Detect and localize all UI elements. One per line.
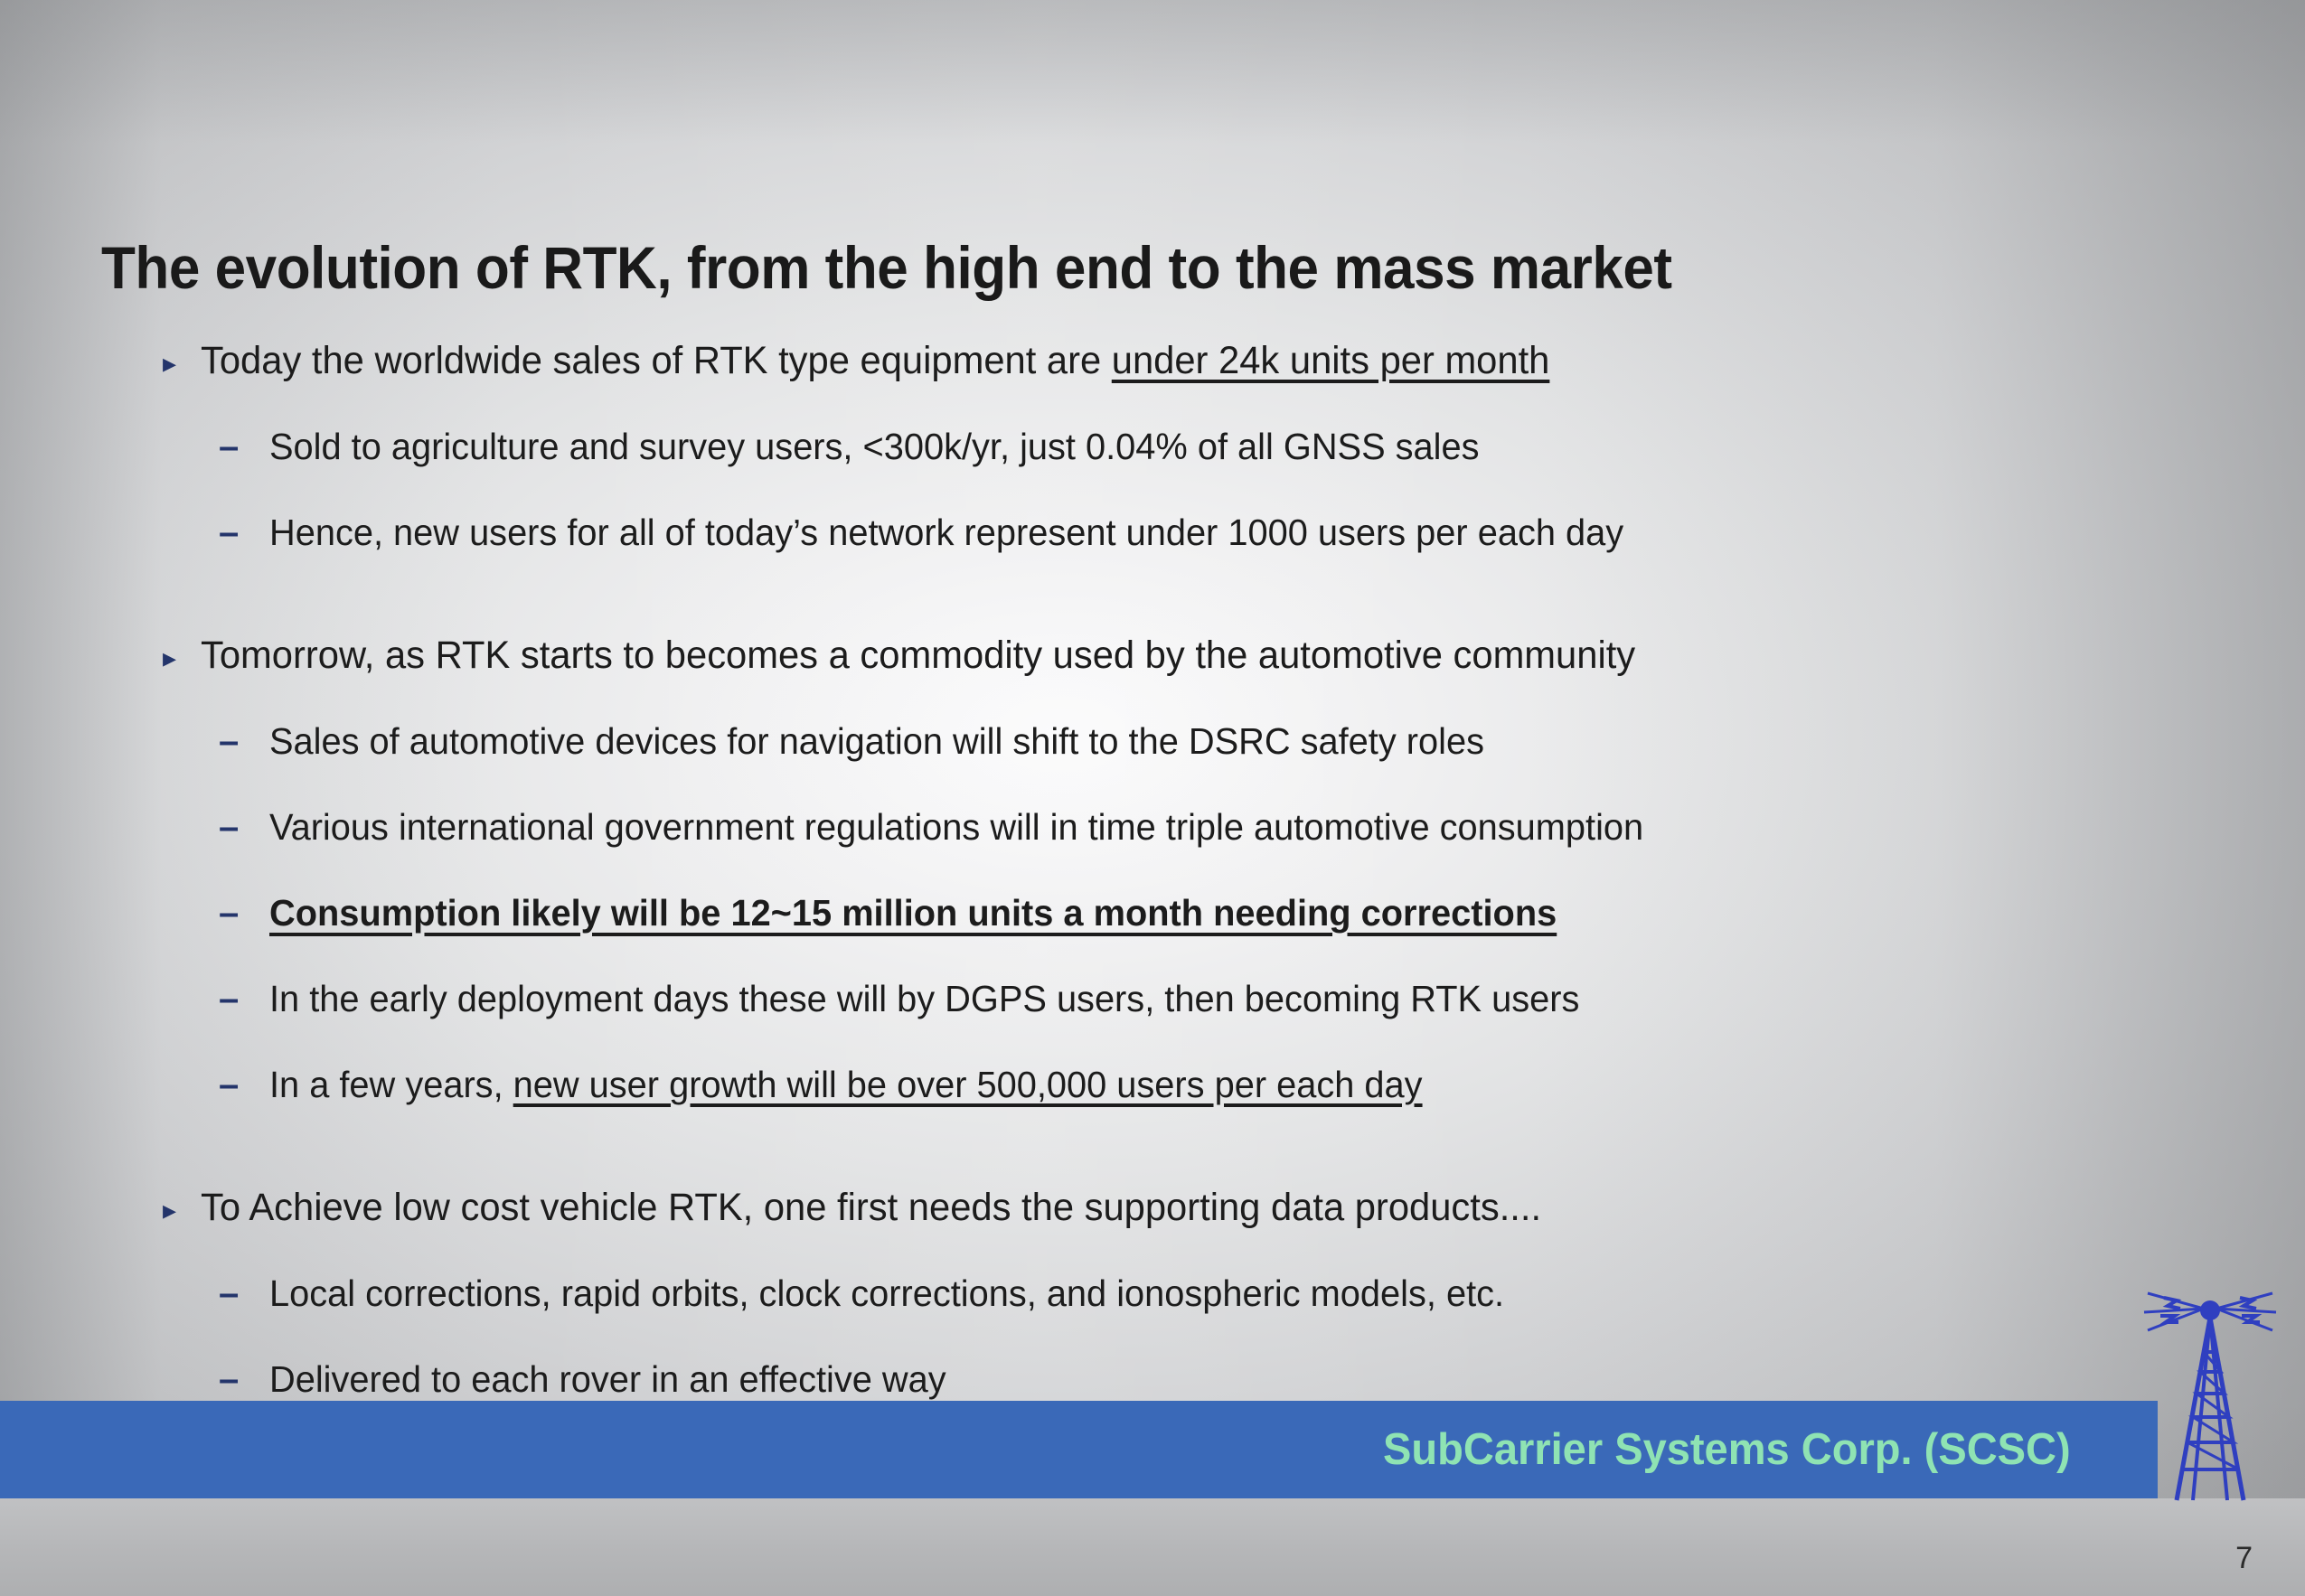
bullet-text: Consumption likely will be 12~15 million…: [269, 895, 1557, 932]
bullet-item-level2: –In the early deployment days these will…: [219, 981, 2206, 1066]
bullet-item-level2: –Local corrections, rapid orbits, clock …: [219, 1275, 2206, 1361]
bullet-segment: Tomorrow, as RTK starts to becomes a com…: [201, 634, 1635, 677]
triangle-bullet-icon: ▸: [163, 1188, 201, 1225]
dash-bullet-icon: –: [219, 895, 269, 931]
bullet-segment: In a few years,: [269, 1064, 513, 1105]
page-number: 7: [2235, 1541, 2253, 1576]
bullet-segment: new user growth will be over 500,000 use…: [513, 1064, 1423, 1105]
bullet-text: Today the worldwide sales of RTK type eq…: [201, 342, 1549, 380]
bullet-item-level2: –Various international government regula…: [219, 809, 2206, 895]
bullet-segment: In the early deployment days these will …: [269, 978, 1579, 1019]
bullet-segment: Hence, new users for all of today’s netw…: [269, 512, 1623, 553]
footer-company-name: SubCarrier Systems Corp. (SCSC): [1383, 1424, 2071, 1475]
triangle-bullet-icon: ▸: [163, 636, 201, 672]
dash-bullet-icon: –: [219, 514, 269, 550]
bullet-item-level2: –Consumption likely will be 12~15 millio…: [219, 895, 2206, 981]
bullet-item-level1: ▸Tomorrow, as RTK starts to becomes a co…: [163, 636, 2206, 723]
dash-bullet-icon: –: [219, 1275, 269, 1311]
dash-bullet-icon: –: [219, 723, 269, 759]
bullet-item-level2: –Sold to agriculture and survey users, <…: [219, 428, 2206, 514]
bullet-segment: Sales of automotive devices for navigati…: [269, 720, 1484, 762]
bullet-segment: Consumption likely will be 12~15 million…: [269, 892, 1557, 934]
presentation-slide: The evolution of RTK, from the high end …: [0, 0, 2305, 1596]
dash-bullet-icon: –: [219, 428, 269, 465]
triangle-bullet-icon: ▸: [163, 342, 201, 378]
dash-bullet-icon: –: [219, 1361, 269, 1397]
bullet-segment: Delivered to each rover in an effective …: [269, 1358, 946, 1400]
bullet-text: Sold to agriculture and survey users, <3…: [269, 428, 1479, 465]
dash-bullet-icon: –: [219, 1066, 269, 1103]
bullet-text: In the early deployment days these will …: [269, 981, 1579, 1018]
bullet-segment: Sold to agriculture and survey users, <3…: [269, 426, 1479, 467]
bullet-segment: Local corrections, rapid orbits, clock c…: [269, 1272, 1504, 1314]
bullet-segment: Today the worldwide sales of RTK type eq…: [201, 339, 1112, 382]
bullet-item-level1: ▸Today the worldwide sales of RTK type e…: [163, 342, 2206, 428]
bullet-text: Local corrections, rapid orbits, clock c…: [269, 1275, 1504, 1312]
bullet-text: Various international government regulat…: [269, 809, 1643, 846]
slide-body: ▸Today the worldwide sales of RTK type e…: [163, 342, 2206, 1447]
bullet-item-level1: ▸To Achieve low cost vehicle RTK, one fi…: [163, 1188, 2206, 1275]
page-title: The evolution of RTK, from the high end …: [101, 237, 2056, 299]
bullet-segment: under 24k units per month: [1112, 339, 1550, 382]
radio-tower-logo: [2124, 1278, 2296, 1513]
bullet-segment: To Achieve low cost vehicle RTK, one fir…: [201, 1186, 1541, 1229]
bottom-strip: [0, 1498, 2305, 1596]
bullet-item-level2: –In a few years, new user growth will be…: [219, 1066, 2206, 1152]
dash-bullet-icon: –: [219, 981, 269, 1017]
bullet-text: Delivered to each rover in an effective …: [269, 1361, 946, 1398]
bullet-segment: Various international government regulat…: [269, 806, 1643, 848]
bullet-text: Sales of automotive devices for navigati…: [269, 723, 1484, 760]
bullet-text: In a few years, new user growth will be …: [269, 1066, 1423, 1103]
bullet-text: To Achieve low cost vehicle RTK, one fir…: [201, 1188, 1541, 1227]
footer-company-wrap: SubCarrier Systems Corp. (SCSC): [1383, 1401, 2099, 1498]
bullet-text: Hence, new users for all of today’s netw…: [269, 514, 1623, 551]
bullet-item-level2: –Sales of automotive devices for navigat…: [219, 723, 2206, 809]
dash-bullet-icon: –: [219, 809, 269, 845]
bullet-item-level2: –Hence, new users for all of today’s net…: [219, 514, 2206, 600]
bullet-text: Tomorrow, as RTK starts to becomes a com…: [201, 636, 1635, 675]
